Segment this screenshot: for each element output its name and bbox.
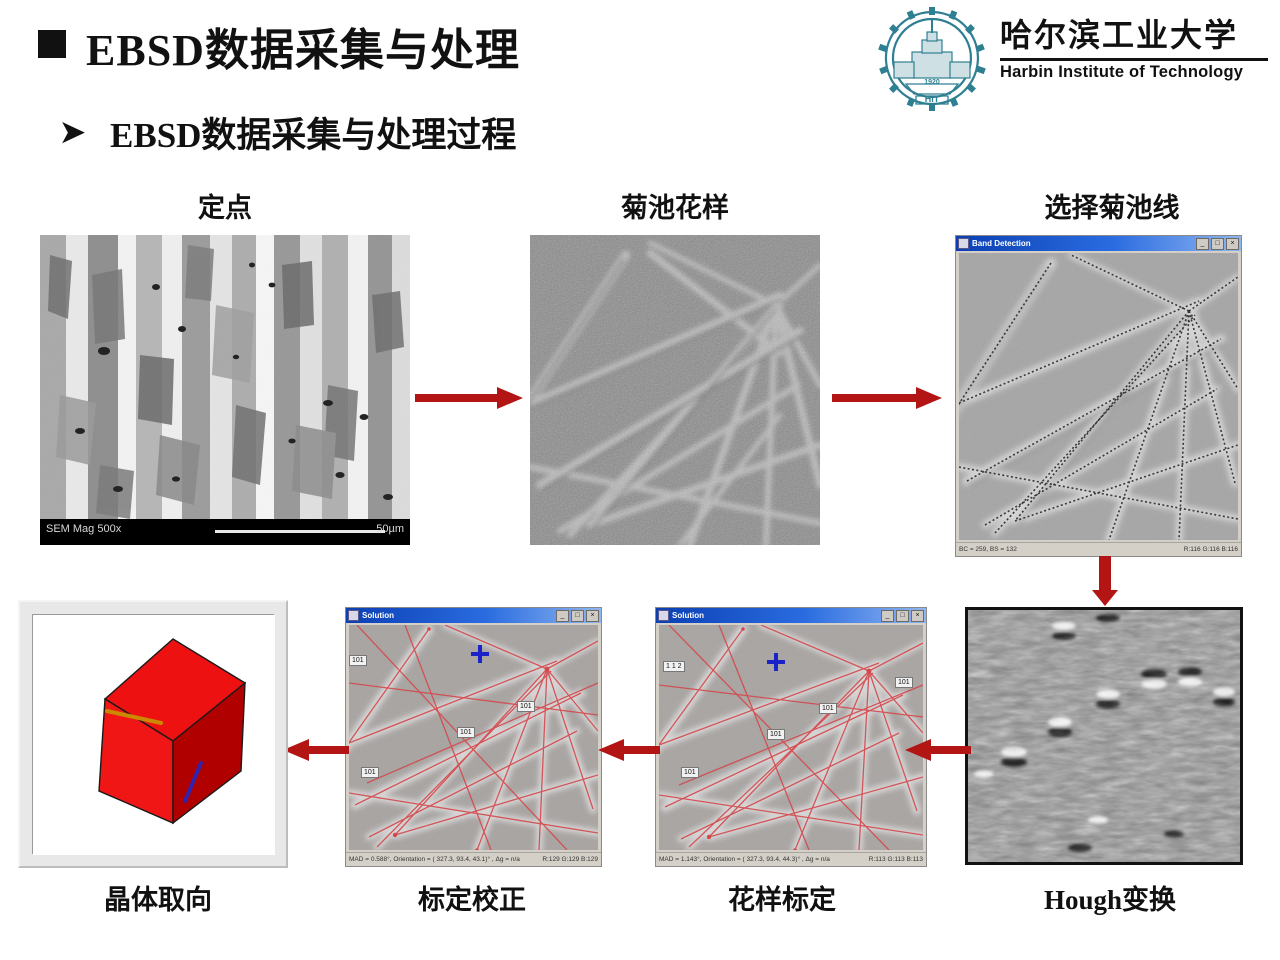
arrow-sem-to-kikuchi: [415, 383, 523, 413]
index-label: 101: [457, 727, 475, 738]
arrow-hough-to-indexed: [905, 735, 971, 765]
arrow-kikuchi-to-band: [832, 383, 942, 413]
hit-logo: 1920 HIT 哈尔滨工业大学 Harbin Institute of Tec…: [872, 6, 1272, 111]
svg-text:HIT: HIT: [925, 94, 940, 104]
band-detection-window[interactable]: Band Detection _ □ ×: [955, 235, 1242, 557]
solution-corrected-statusbar: MAD = 0.588°, Orientation = ( 327.3, 93.…: [346, 852, 601, 866]
index-label: 101: [361, 767, 379, 778]
caption-hough: Hough变换: [1010, 878, 1210, 917]
sem-scale-label: 50µm: [376, 523, 404, 535]
solution-corrected-status-right: R:129 G:129 B:129: [542, 856, 598, 863]
index-label: 101: [349, 655, 367, 666]
caption-band: 选择菊池线: [1022, 186, 1202, 225]
solution-window-indexed[interactable]: Solution _ □ ×: [655, 607, 927, 867]
solution-corrected-buttons[interactable]: _ □ ×: [556, 610, 599, 622]
maximize-button[interactable]: □: [571, 610, 584, 622]
index-label: 101: [681, 767, 699, 778]
band-window-title: Band Detection: [972, 239, 1031, 248]
solution-indexed-status-right: R:113 G:113 B:113: [869, 856, 923, 863]
minimize-button[interactable]: _: [881, 610, 894, 622]
maximize-button[interactable]: □: [896, 610, 909, 622]
hit-crest-icon: 1920 HIT: [872, 6, 992, 111]
caption-solution-corrected: 标定校正: [382, 878, 562, 917]
logo-title-en: Harbin Institute of Technology: [1000, 63, 1270, 82]
band-window-statusbar: BC = 259, BS = 132 R:116 G:116 B:116: [956, 542, 1241, 556]
blue-crosshair-marker: [767, 653, 785, 671]
solution-corrected-canvas: 101 101 101 101: [349, 625, 598, 850]
blue-crosshair-marker: [471, 645, 489, 663]
minimize-button[interactable]: _: [1196, 238, 1209, 250]
slide-root: EBSD数据采集与处理 ➤ EBSD数据采集与处理过程: [0, 0, 1280, 960]
logo-divider: [1000, 58, 1268, 61]
triangle-arrow-icon: ➤: [60, 118, 85, 148]
caption-crystal: 晶体取向: [68, 878, 248, 917]
index-label: 101: [767, 729, 785, 740]
page-subtitle: EBSD数据采集与处理过程: [110, 107, 516, 158]
index-label: 1 1 2: [663, 661, 685, 672]
solution-indexed-title: Solution: [672, 611, 704, 620]
window-app-icon: [348, 610, 359, 621]
solution-indexed-titlebar[interactable]: Solution _ □ ×: [656, 608, 926, 623]
sem-micrograph: SEM Mag 500x 50µm: [40, 235, 410, 545]
square-bullet-icon: [38, 30, 66, 58]
crystal-canvas: [32, 614, 274, 854]
sem-mag-label: SEM Mag 500x: [46, 523, 121, 535]
solution-corrected-title: Solution: [362, 611, 394, 620]
band-detection-canvas: [959, 253, 1238, 540]
window-app-icon: [658, 610, 669, 621]
sem-info-bar: SEM Mag 500x 50µm: [40, 519, 410, 545]
solution-corrected-status-left: MAD = 0.588°, Orientation = ( 327.3, 93.…: [349, 856, 520, 863]
svg-text:1920: 1920: [924, 79, 940, 86]
arrow-indexed-to-corrected: [598, 735, 660, 765]
band-status-left: BC = 259, BS = 132: [959, 546, 1017, 553]
index-label: 101: [517, 701, 535, 712]
kikuchi-pattern: [530, 235, 820, 545]
page-title: EBSD数据采集与处理: [86, 14, 520, 78]
hough-transform: [965, 607, 1243, 865]
arrow-band-to-hough: [1090, 556, 1120, 606]
band-window-buttons[interactable]: _ □ ×: [1196, 238, 1239, 250]
logo-title-cn: 哈尔滨工业大学: [1000, 10, 1270, 56]
solution-indexed-canvas: 1 1 2 101 101 101 101: [659, 625, 923, 850]
arrow-corrected-to-crystal: [283, 735, 349, 765]
minimize-button[interactable]: _: [556, 610, 569, 622]
index-label: 101: [895, 677, 913, 688]
caption-kikuchi: 菊池花样: [600, 186, 750, 225]
caption-sem: 定点: [150, 186, 300, 225]
close-button[interactable]: ×: [586, 610, 599, 622]
solution-window-corrected[interactable]: Solution _ □ ×: [345, 607, 602, 867]
close-button[interactable]: ×: [1226, 238, 1239, 250]
sem-scale-bar: [215, 530, 385, 533]
close-button[interactable]: ×: [911, 610, 924, 622]
caption-solution-indexed: 花样标定: [692, 878, 872, 917]
crystal-orientation-view: [18, 600, 288, 868]
solution-indexed-statusbar: MAD = 1.143°, Orientation = ( 327.3, 93.…: [656, 852, 926, 866]
band-status-right: R:116 G:116 B:116: [1184, 546, 1238, 553]
solution-corrected-titlebar[interactable]: Solution _ □ ×: [346, 608, 601, 623]
solution-indexed-buttons[interactable]: _ □ ×: [881, 610, 924, 622]
band-window-titlebar[interactable]: Band Detection _ □ ×: [956, 236, 1241, 251]
maximize-button[interactable]: □: [1211, 238, 1224, 250]
solution-indexed-status-left: MAD = 1.143°, Orientation = ( 327.3, 93.…: [659, 856, 830, 863]
index-label: 101: [819, 703, 837, 714]
window-app-icon: [958, 238, 969, 249]
